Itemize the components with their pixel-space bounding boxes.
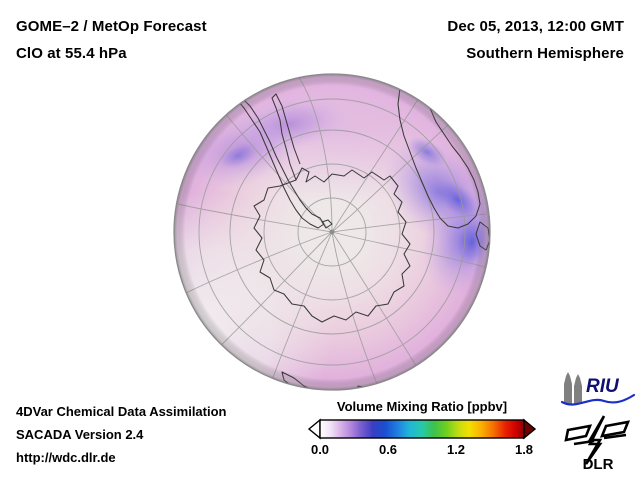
- riu-logo: RIU: [556, 370, 636, 410]
- colorbar-tick-2: 1.2: [447, 442, 465, 457]
- hemisphere-label: Southern Hemisphere: [466, 45, 624, 62]
- data-center-url[interactable]: http://wdc.dlr.de: [16, 450, 116, 465]
- species-level-subtitle: ClO at 55.4 hPa: [16, 45, 127, 62]
- assimilation-method-label: 4DVar Chemical Data Assimilation: [16, 404, 227, 419]
- riu-tower-icon: [564, 372, 582, 404]
- instrument-title: GOME–2 / MetOp Forecast: [16, 18, 207, 35]
- colorbar-tick-1: 0.6: [379, 442, 397, 457]
- colorbar-tick-0: 0.0: [311, 442, 329, 457]
- colorbar: Volume Mixing Ratio [ppbv]: [308, 399, 536, 462]
- orthographic-globe-map: [172, 72, 492, 392]
- dlr-wordmark: DLR: [583, 456, 614, 472]
- riu-wordmark: RIU: [586, 376, 620, 397]
- colorbar-tick-3: 1.8: [515, 442, 533, 457]
- colorbar-tick-labels: 0.0 0.6 1.2 1.8: [308, 442, 536, 462]
- datetime-label: Dec 05, 2013, 12:00 GMT: [447, 18, 624, 35]
- dlr-logo: DLR: [560, 414, 636, 472]
- software-version-label: SACADA Version 2.4: [16, 427, 143, 442]
- colorbar-title: Volume Mixing Ratio [ppbv]: [308, 399, 536, 414]
- colorbar-gradient: [308, 418, 536, 440]
